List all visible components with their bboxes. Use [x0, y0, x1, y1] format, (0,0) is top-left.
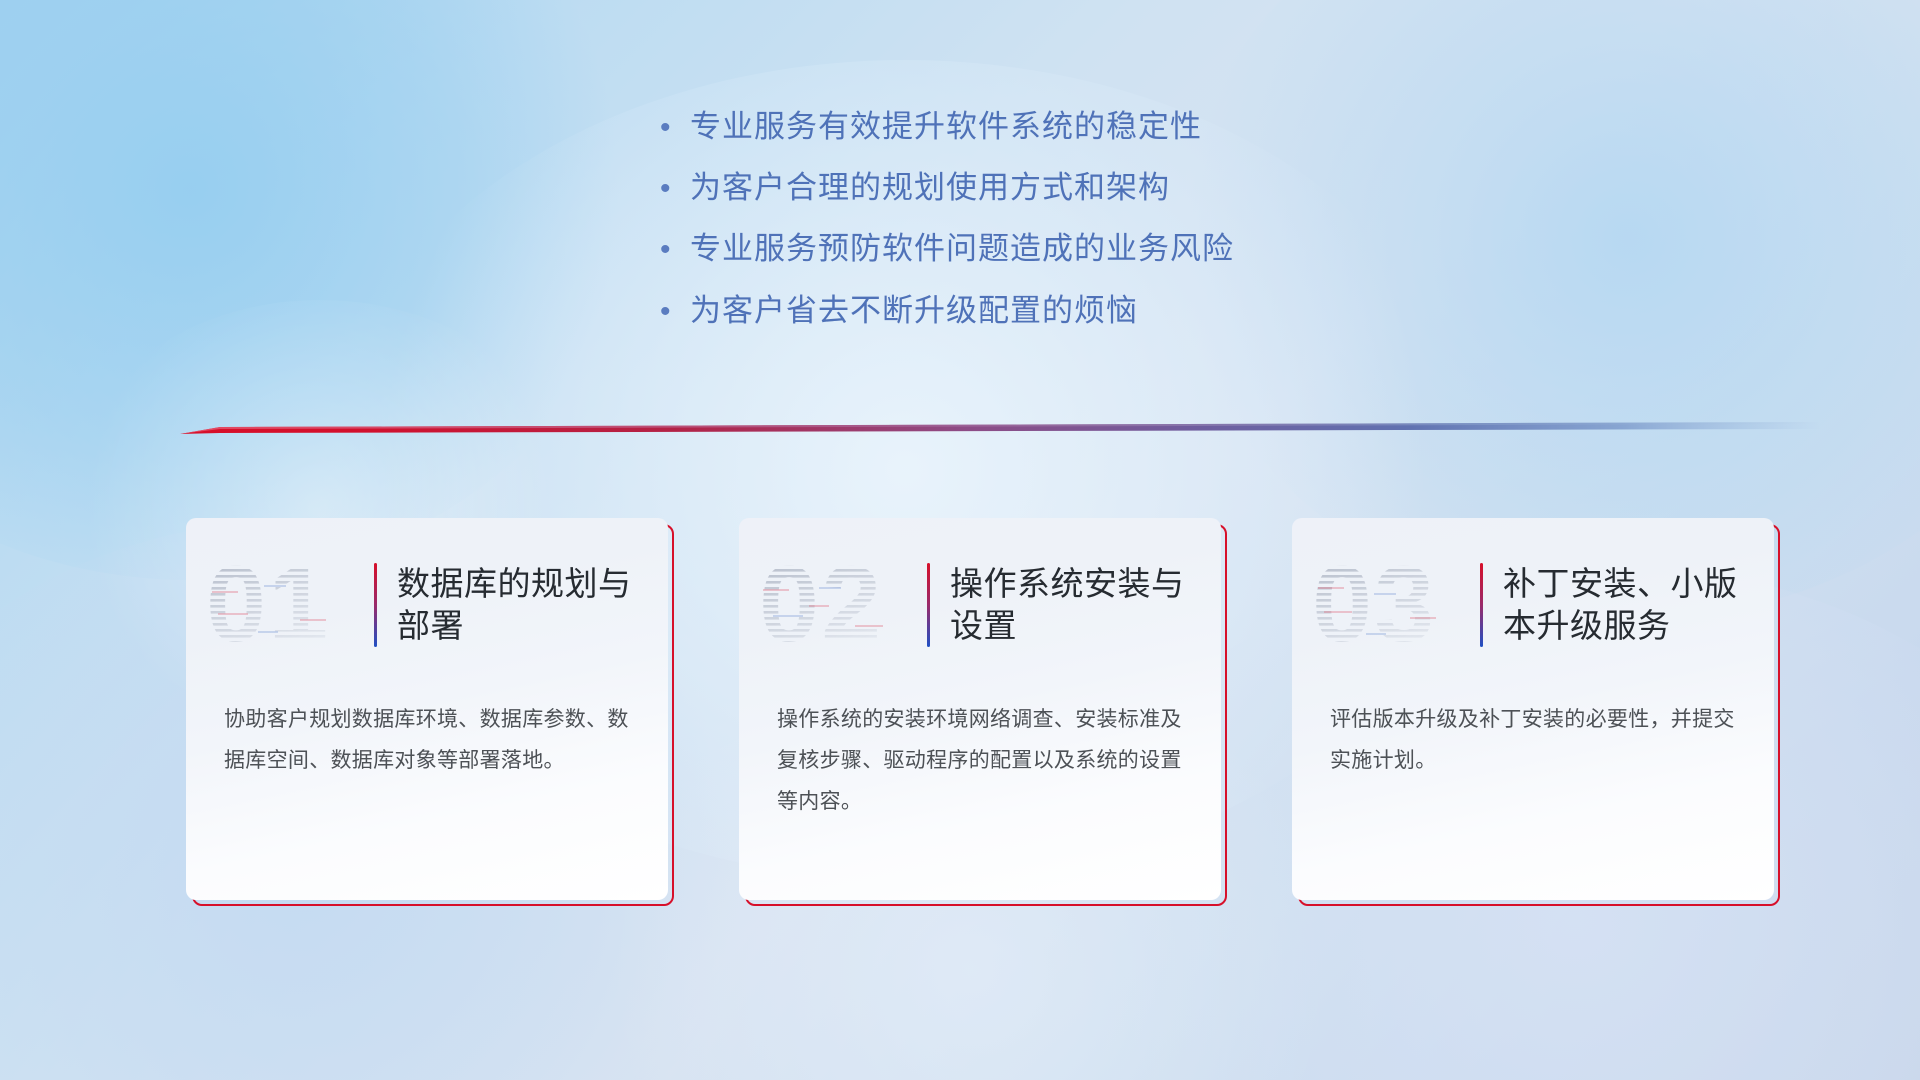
- bullet-marker-icon: •: [660, 297, 690, 327]
- bullet-list: • 专业服务有效提升软件系统的稳定性 • 为客户合理的规划使用方式和架构 • 专…: [660, 108, 1560, 353]
- card-header: 03 补丁安装、小版本升级服务: [1292, 540, 1774, 670]
- background-glow-top-left: [0, 0, 640, 580]
- card-number-watermark: 01: [204, 545, 374, 665]
- svg-text:01: 01: [206, 545, 330, 664]
- bullet-text: 为客户省去不断升级配置的烦恼: [690, 292, 1138, 329]
- card-number-watermark: 03: [1310, 545, 1480, 665]
- card-surface: 03 补丁安装、小版本升级服务: [1292, 518, 1774, 900]
- bullet-text: 专业服务有效提升软件系统的稳定性: [690, 108, 1202, 145]
- striped-number-icon: 02: [757, 545, 927, 665]
- striped-number-icon: 03: [1310, 545, 1480, 665]
- svg-text:02: 02: [759, 545, 883, 664]
- card-title-rule: [1480, 563, 1483, 647]
- slide-canvas: • 专业服务有效提升软件系统的稳定性 • 为客户合理的规划使用方式和架构 • 专…: [0, 0, 1920, 1080]
- bullet-text: 为客户合理的规划使用方式和架构: [690, 169, 1170, 206]
- card-title-rule: [927, 563, 930, 647]
- card-header: 01 数据库的规划与部署: [186, 540, 668, 670]
- card-02[interactable]: 02 操作系统安装与设置: [739, 518, 1221, 900]
- card-row: 01 数据库的规划与部署: [186, 518, 1786, 908]
- card-description: 操作系统的安装环境网络调查、安装标准及复核步骤、驱动程序的配置以及系统的设置等内…: [777, 700, 1189, 823]
- card-surface: 01 数据库的规划与部署: [186, 518, 668, 900]
- card-title: 补丁安装、小版本升级服务: [1503, 563, 1753, 647]
- divider-shape-icon: [180, 418, 1820, 442]
- card-description: 评估版本升级及补丁安装的必要性，并提交实施计划。: [1330, 700, 1742, 782]
- card-03[interactable]: 03 补丁安装、小版本升级服务: [1292, 518, 1774, 900]
- card-number-watermark: 02: [757, 545, 927, 665]
- svg-text:03: 03: [1312, 545, 1436, 664]
- list-item: • 为客户省去不断升级配置的烦恼: [660, 292, 1560, 329]
- card-description: 协助客户规划数据库环境、数据库参数、数据库空间、数据库对象等部署落地。: [224, 700, 636, 782]
- striped-number-icon: 01: [204, 545, 374, 665]
- list-item: • 为客户合理的规划使用方式和架构: [660, 169, 1560, 206]
- bullet-text: 专业服务预防软件问题造成的业务风险: [690, 230, 1234, 267]
- bullet-marker-icon: •: [660, 113, 690, 143]
- card-header: 02 操作系统安装与设置: [739, 540, 1221, 670]
- card-title-rule: [374, 563, 377, 647]
- section-divider: [180, 418, 1820, 442]
- bullet-marker-icon: •: [660, 235, 690, 265]
- card-surface: 02 操作系统安装与设置: [739, 518, 1221, 900]
- list-item: • 专业服务有效提升软件系统的稳定性: [660, 108, 1560, 145]
- bullet-marker-icon: •: [660, 174, 690, 204]
- list-item: • 专业服务预防软件问题造成的业务风险: [660, 230, 1560, 267]
- card-title: 数据库的规划与部署: [397, 563, 647, 647]
- card-title: 操作系统安装与设置: [950, 563, 1200, 647]
- card-01[interactable]: 01 数据库的规划与部署: [186, 518, 668, 900]
